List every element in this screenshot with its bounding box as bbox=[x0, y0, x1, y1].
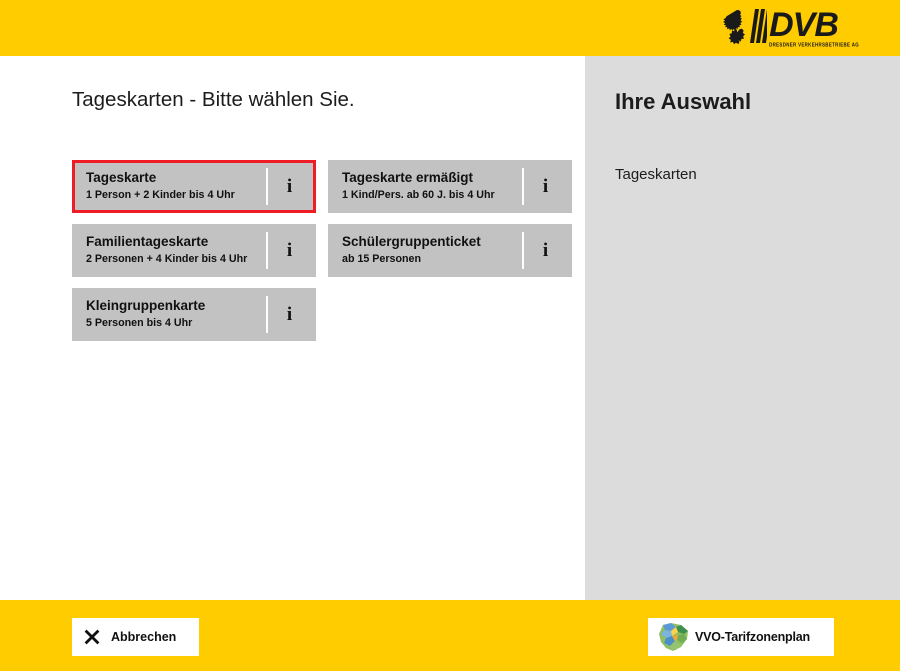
selection-panel: Ihre Auswahl Tageskarten bbox=[585, 56, 900, 600]
info-icon: i bbox=[287, 305, 292, 324]
ticket-labels: Tageskarte ermäßigt 1 Kind/Pers. ab 60 J… bbox=[331, 163, 522, 210]
ticket-title: Schülergruppenticket bbox=[342, 234, 522, 249]
ticket-row: Tageskarte 1 Person + 2 Kinder bis 4 Uhr… bbox=[72, 160, 572, 213]
panel-title: Ihre Auswahl bbox=[615, 89, 751, 115]
cancel-label: Abbrechen bbox=[111, 630, 176, 644]
info-icon: i bbox=[287, 177, 292, 196]
ticket-button-tageskarte[interactable]: Tageskarte 1 Person + 2 Kinder bis 4 Uhr… bbox=[72, 160, 316, 213]
tariff-zone-plan-button[interactable]: VVO-Tarifzonenplan bbox=[648, 618, 834, 656]
info-icon: i bbox=[543, 241, 548, 260]
logo-subtitle: DRESDNER VERKEHRSBETRIEBE AG bbox=[769, 42, 859, 48]
info-icon: i bbox=[543, 177, 548, 196]
info-button[interactable]: i bbox=[522, 163, 569, 210]
ticket-labels: Tageskarte 1 Person + 2 Kinder bis 4 Uhr bbox=[75, 163, 266, 210]
info-button[interactable]: i bbox=[522, 227, 569, 274]
ticket-title: Familientageskarte bbox=[86, 234, 266, 249]
header-bar: DVB DRESDNER VERKEHRSBETRIEBE AG bbox=[0, 0, 900, 56]
ticket-title: Tageskarte ermäßigt bbox=[342, 170, 522, 185]
ticket-title: Kleingruppenkarte bbox=[86, 298, 266, 313]
ticket-title: Tageskarte bbox=[86, 170, 266, 185]
logo-text: DVB DRESDNER VERKEHRSBETRIEBE AG bbox=[769, 9, 859, 47]
lion-crest-icon bbox=[723, 9, 749, 45]
ticket-labels: Schülergruppenticket ab 15 Personen bbox=[331, 227, 522, 274]
close-x-icon bbox=[84, 629, 100, 645]
ticket-subtitle: ab 15 Personen bbox=[342, 253, 522, 265]
ticket-labels: Familientageskarte 2 Personen + 4 Kinder… bbox=[75, 227, 266, 274]
tariff-zone-plan-label: VVO-Tarifzonenplan bbox=[695, 630, 810, 644]
cancel-button[interactable]: Abbrechen bbox=[72, 618, 199, 656]
tariff-zone-map-icon bbox=[657, 622, 691, 652]
ticket-row: Kleingruppenkarte 5 Personen bis 4 Uhr i bbox=[72, 288, 572, 341]
ticket-button-familientageskarte[interactable]: Familientageskarte 2 Personen + 4 Kinder… bbox=[72, 224, 316, 277]
ticket-button-schuelergruppenticket[interactable]: Schülergruppenticket ab 15 Personen i bbox=[328, 224, 572, 277]
ticket-subtitle: 1 Person + 2 Kinder bis 4 Uhr bbox=[86, 189, 266, 201]
ticket-labels: Kleingruppenkarte 5 Personen bis 4 Uhr bbox=[75, 291, 266, 338]
ticket-machine-screen: DVB DRESDNER VERKEHRSBETRIEBE AG Tageska… bbox=[0, 0, 900, 671]
info-button[interactable]: i bbox=[266, 227, 313, 274]
info-button[interactable]: i bbox=[266, 291, 313, 338]
grid-spacer bbox=[328, 288, 572, 341]
ticket-subtitle: 2 Personen + 4 Kinder bis 4 Uhr bbox=[86, 253, 266, 265]
ticket-button-tageskarte-ermaessigt[interactable]: Tageskarte ermäßigt 1 Kind/Pers. ab 60 J… bbox=[328, 160, 572, 213]
ticket-button-kleingruppenkarte[interactable]: Kleingruppenkarte 5 Personen bis 4 Uhr i bbox=[72, 288, 316, 341]
dvb-logo: DVB DRESDNER VERKEHRSBETRIEBE AG bbox=[723, 9, 859, 49]
page-title: Tageskarten - Bitte wählen Sie. bbox=[72, 88, 355, 112]
info-icon: i bbox=[287, 241, 292, 260]
ticket-subtitle: 1 Kind/Pers. ab 60 J. bis 4 Uhr bbox=[342, 189, 522, 201]
selected-product-label: Tageskarten bbox=[615, 166, 697, 183]
info-button[interactable]: i bbox=[266, 163, 313, 210]
footer-bar: Abbrechen VVO-Tarifzonenplan bbox=[0, 600, 900, 671]
logo-wordmark: DVB bbox=[769, 9, 838, 41]
ticket-subtitle: 5 Personen bis 4 Uhr bbox=[86, 317, 266, 329]
ticket-option-grid: Tageskarte 1 Person + 2 Kinder bis 4 Uhr… bbox=[72, 160, 572, 352]
ticket-row: Familientageskarte 2 Personen + 4 Kinder… bbox=[72, 224, 572, 277]
main-content: Tageskarten - Bitte wählen Sie. Tageskar… bbox=[0, 56, 585, 600]
diagonal-stripes-icon bbox=[750, 9, 767, 43]
